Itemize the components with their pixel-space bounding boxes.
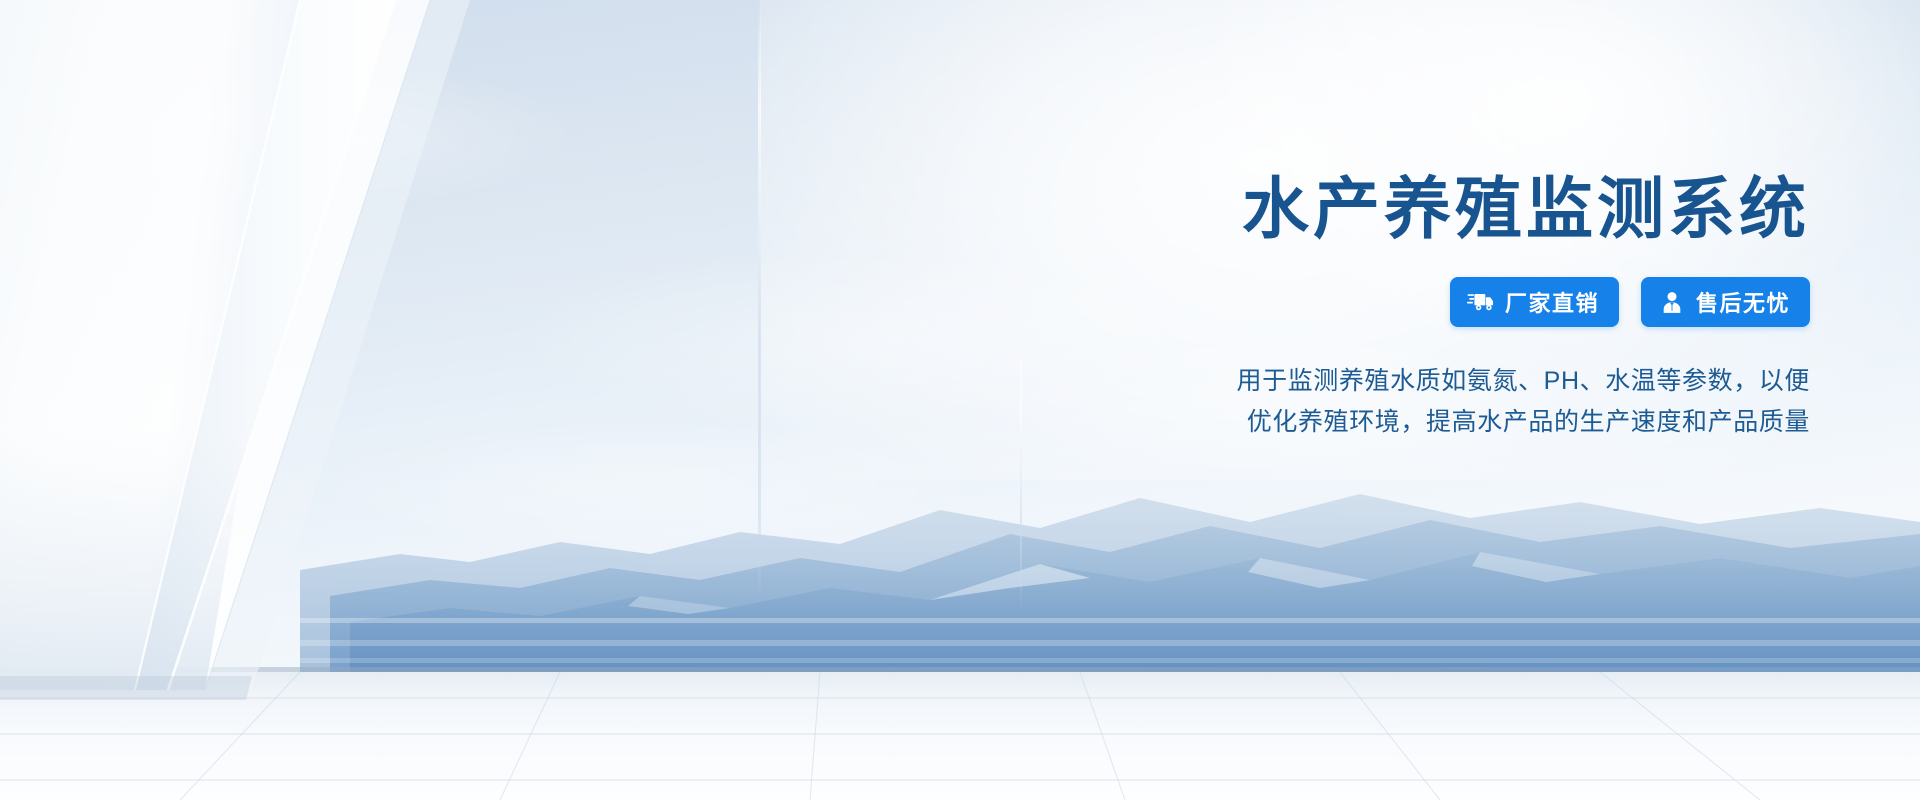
badge-label: 售后无忧 xyxy=(1696,286,1790,318)
hero-content: 水产养殖监测系统 xyxy=(990,172,1810,442)
description-line: 用于监测养殖水质如氨氮、PH、水温等参数，以便 xyxy=(990,361,1810,402)
hero-banner: 水产养殖监测系统 xyxy=(0,0,1920,800)
badge-after-sales[interactable]: 售后无忧 xyxy=(1641,277,1810,327)
description-line: 优化养殖环境，提高水产品的生产速度和产品质量 xyxy=(990,402,1810,443)
page-description: 用于监测养殖水质如氨氮、PH、水温等参数，以便 优化养殖环境，提高水产品的生产速… xyxy=(990,361,1810,442)
architectural-wedge-illustration xyxy=(0,0,820,800)
delivery-truck-icon xyxy=(1467,290,1495,314)
badge-list: 厂家直销 售后无忧 xyxy=(990,277,1810,327)
page-title: 水产养殖监测系统 xyxy=(990,172,1810,247)
glass-seam xyxy=(758,0,761,600)
badge-factory-direct[interactable]: 厂家直销 xyxy=(1450,277,1619,327)
support-person-icon xyxy=(1658,290,1686,314)
badge-label: 厂家直销 xyxy=(1505,286,1599,318)
